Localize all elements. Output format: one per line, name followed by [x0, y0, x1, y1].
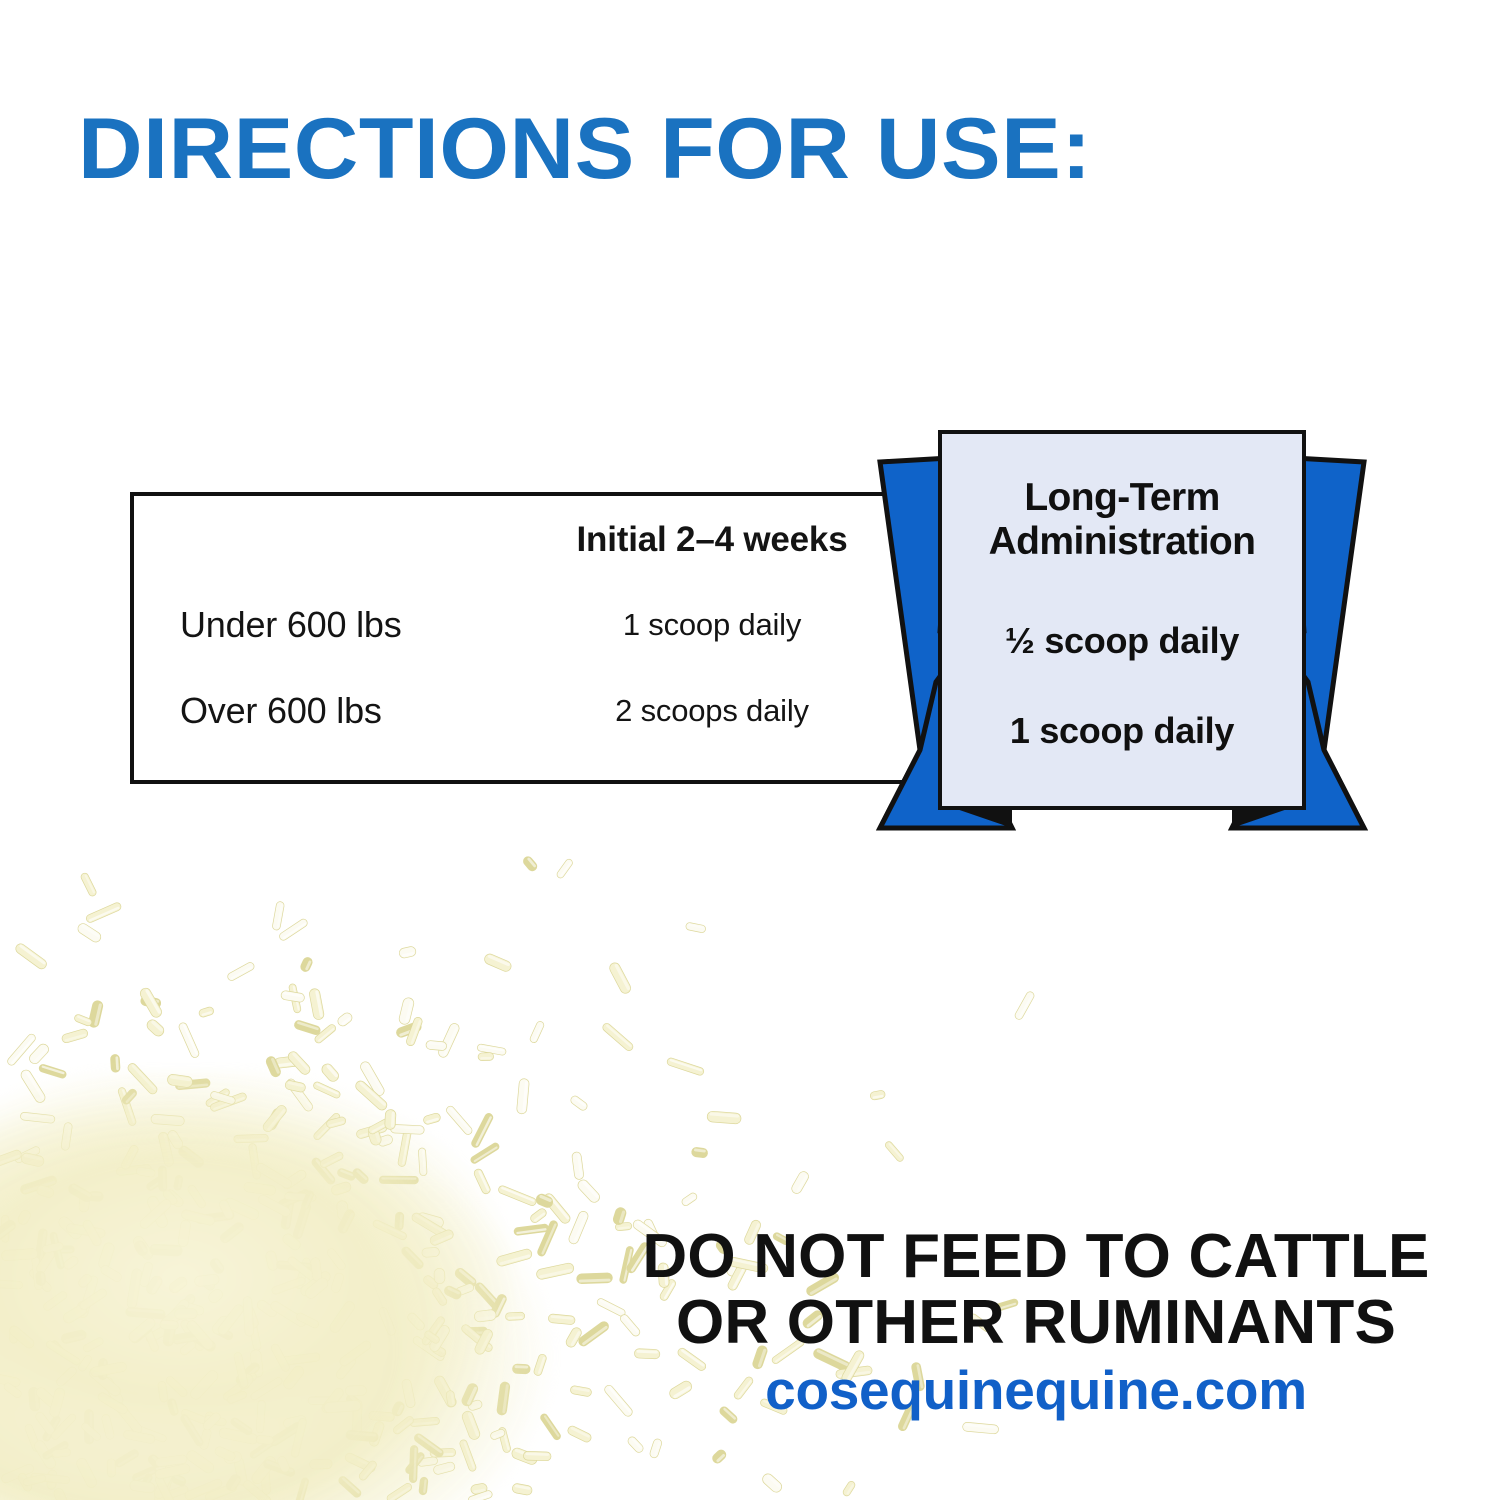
granule — [467, 1399, 483, 1411]
granule — [461, 1410, 482, 1441]
granule — [157, 1381, 168, 1403]
granule — [34, 1411, 56, 1437]
granule — [250, 1454, 278, 1486]
granule — [19, 1175, 58, 1195]
granule — [34, 1228, 48, 1267]
granule — [250, 1376, 284, 1401]
granule — [55, 1365, 78, 1387]
granule — [295, 1257, 312, 1289]
granule — [299, 956, 313, 973]
granule — [455, 1283, 475, 1297]
granule — [190, 1330, 217, 1353]
granule — [210, 1314, 231, 1336]
granule — [430, 1448, 456, 1457]
granule — [139, 1261, 153, 1287]
granule — [433, 1374, 458, 1409]
granule — [369, 1411, 395, 1421]
granule — [338, 1339, 372, 1367]
granule — [223, 1196, 261, 1221]
granule — [158, 1166, 167, 1192]
granule — [459, 1439, 477, 1472]
granule — [204, 1415, 227, 1427]
granule — [218, 1221, 245, 1245]
granule — [77, 1354, 93, 1372]
granule — [195, 1211, 234, 1224]
table-row: Over 600 lbs 2 scoops daily — [134, 690, 978, 744]
granule — [154, 1485, 190, 1500]
granule — [145, 1322, 176, 1345]
granule — [760, 1472, 783, 1495]
granule — [0, 1373, 21, 1388]
granule — [52, 1448, 72, 1458]
granule — [66, 1223, 106, 1238]
granule — [569, 1094, 589, 1111]
granule — [412, 1335, 446, 1362]
granule — [117, 1087, 137, 1127]
granule — [512, 1483, 533, 1496]
ribbon-title-line-2: Administration — [942, 520, 1302, 564]
granule — [522, 855, 539, 873]
granule — [319, 1151, 344, 1169]
granule — [398, 946, 416, 959]
granule — [31, 1257, 42, 1291]
granule — [535, 1192, 555, 1209]
granule — [174, 1308, 197, 1319]
granule — [99, 1264, 123, 1283]
granule — [61, 1028, 89, 1044]
granule — [615, 1222, 632, 1231]
granule — [207, 1287, 225, 1305]
granule — [707, 1111, 742, 1124]
granule — [542, 1192, 572, 1226]
granule — [136, 1167, 156, 1178]
granule — [514, 1224, 549, 1236]
granule — [596, 1297, 626, 1317]
granule — [6, 1033, 37, 1067]
granule — [281, 1352, 321, 1365]
granule — [205, 1088, 231, 1108]
granule — [359, 1060, 386, 1097]
granule — [76, 922, 103, 944]
granule — [397, 1130, 411, 1168]
granule — [49, 1246, 74, 1254]
granule — [395, 1212, 404, 1230]
granule — [417, 1457, 438, 1467]
granule — [47, 1470, 58, 1490]
granule — [548, 1314, 575, 1325]
granule — [536, 1262, 575, 1280]
granule — [49, 1387, 66, 1418]
granule — [185, 1319, 215, 1352]
granule — [962, 1422, 999, 1434]
granule — [185, 1449, 216, 1476]
granule — [276, 1455, 291, 1473]
granule — [145, 1274, 164, 1296]
granule — [288, 983, 301, 1013]
granule — [496, 1381, 510, 1415]
granule — [566, 1425, 592, 1444]
granule — [121, 1088, 139, 1106]
granule — [262, 1459, 296, 1478]
granule — [101, 1376, 124, 1407]
granule — [10, 1326, 18, 1343]
granule — [45, 1340, 81, 1367]
granule — [570, 1385, 592, 1397]
granule — [685, 922, 706, 933]
granule — [309, 988, 325, 1021]
granule — [398, 997, 415, 1026]
granule — [533, 1353, 547, 1376]
granule — [96, 1391, 128, 1415]
granule — [372, 1219, 408, 1241]
granule — [162, 1315, 177, 1346]
granule — [437, 1022, 461, 1059]
granule — [0, 1463, 35, 1484]
granule — [277, 1188, 311, 1209]
granule — [133, 1239, 150, 1258]
granule — [167, 1074, 194, 1089]
granule — [842, 1480, 857, 1497]
ribbon-title-line-1: Long-Term — [942, 476, 1302, 520]
granule — [295, 1312, 320, 1330]
granule — [313, 1023, 337, 1044]
granule — [601, 1022, 634, 1053]
granule — [400, 1245, 425, 1270]
granule — [310, 1257, 322, 1282]
granule — [234, 1361, 261, 1387]
granule — [36, 1184, 55, 1199]
granule — [328, 1299, 357, 1334]
granule — [422, 1274, 440, 1291]
granule — [445, 1105, 474, 1136]
granule — [711, 1448, 728, 1465]
row-initial-dose: 2 scoops daily — [502, 693, 922, 729]
granule — [202, 1411, 222, 1432]
granule — [186, 1184, 207, 1210]
granule — [285, 1192, 317, 1201]
granule — [536, 1219, 558, 1257]
granule — [234, 1134, 269, 1143]
granule — [62, 1255, 80, 1271]
granule — [2, 1381, 22, 1399]
granule — [42, 1290, 68, 1312]
row-initial-dose: 1 scoop daily — [502, 607, 922, 643]
granule — [80, 1422, 102, 1442]
granule — [352, 1400, 362, 1440]
granule — [173, 1175, 183, 1191]
granule — [473, 1328, 494, 1356]
granule — [478, 1053, 494, 1061]
granule — [160, 1320, 179, 1330]
granule — [88, 1000, 104, 1029]
granule — [336, 1167, 356, 1181]
granule — [255, 1162, 293, 1190]
granule — [612, 1206, 627, 1226]
granule — [154, 1474, 178, 1500]
granule — [226, 1390, 247, 1404]
granule — [312, 1081, 341, 1099]
granule — [150, 1244, 183, 1256]
granule — [213, 1325, 234, 1341]
granule — [229, 1416, 253, 1436]
granule — [608, 961, 633, 995]
granule — [20, 1112, 55, 1124]
granule — [884, 1140, 905, 1163]
granule — [78, 1191, 90, 1212]
website-url[interactable]: cosequinequine.com — [636, 1358, 1436, 1422]
granule — [1, 1248, 38, 1261]
granule — [666, 1057, 705, 1076]
granule — [167, 1398, 180, 1417]
granule — [368, 1420, 385, 1447]
granule — [354, 1079, 389, 1112]
granule — [460, 1323, 494, 1353]
granule — [145, 1018, 166, 1039]
granule — [179, 1293, 197, 1312]
granule — [97, 1241, 115, 1270]
granule — [75, 1456, 99, 1489]
granule — [265, 1250, 279, 1271]
granule — [35, 1240, 62, 1275]
granule — [73, 1013, 92, 1026]
granule — [470, 1112, 494, 1149]
granule — [223, 1451, 242, 1465]
granule — [523, 1451, 551, 1461]
granule — [281, 1232, 303, 1252]
granule — [130, 1423, 167, 1443]
long-term-ribbon-callout: Long-Term Administration ½ scoop daily 1… — [862, 420, 1382, 840]
granule — [131, 1234, 155, 1261]
granule — [247, 1314, 262, 1351]
granule — [870, 1090, 886, 1101]
granule — [336, 1200, 349, 1220]
granule — [467, 1490, 493, 1500]
table-row: Under 600 lbs 1 scoop daily — [134, 604, 978, 658]
granule — [123, 1429, 156, 1444]
granule — [60, 1329, 87, 1344]
granule — [556, 858, 574, 880]
granule — [410, 1211, 449, 1239]
granule — [127, 1316, 157, 1344]
granule — [57, 1215, 84, 1242]
granule — [16, 1208, 32, 1226]
granule — [453, 1266, 478, 1289]
granule — [567, 1210, 589, 1245]
granule — [346, 1430, 379, 1442]
row-weight-label: Under 600 lbs — [180, 604, 402, 646]
granule — [293, 1019, 321, 1035]
granule — [38, 1064, 67, 1080]
granule — [20, 1152, 45, 1168]
granule — [163, 1188, 185, 1209]
granule — [619, 1246, 634, 1284]
granule — [576, 1178, 602, 1205]
ribbon-dose-over-600: 1 scoop daily — [942, 710, 1302, 752]
granule — [167, 1298, 191, 1323]
granule — [355, 1122, 387, 1139]
granule — [158, 1131, 175, 1167]
granule — [146, 1195, 170, 1230]
granule — [336, 1011, 354, 1028]
granule — [269, 1300, 307, 1329]
granule — [426, 1040, 447, 1050]
granule — [19, 1068, 47, 1104]
granule — [505, 1312, 525, 1321]
granule — [90, 1361, 128, 1377]
granule — [299, 1270, 333, 1298]
dosage-table: Initial 2–4 weeks Under 600 lbs 1 scoop … — [130, 492, 982, 784]
granule — [431, 1286, 448, 1307]
granule — [233, 1456, 248, 1486]
granule — [358, 1459, 378, 1481]
granule — [84, 1409, 93, 1444]
granule — [8, 1324, 36, 1350]
granule — [151, 1114, 185, 1126]
granule — [22, 1474, 46, 1487]
granule — [429, 1228, 455, 1246]
granule — [131, 1465, 157, 1482]
granule — [489, 1428, 506, 1440]
granule — [233, 1352, 248, 1388]
granule — [166, 1129, 185, 1151]
granule — [0, 1149, 23, 1170]
granule — [61, 1303, 88, 1325]
granule — [577, 1273, 613, 1284]
granule — [286, 1050, 312, 1077]
granule — [194, 1274, 220, 1287]
granule — [237, 1372, 255, 1391]
granule — [390, 1124, 424, 1134]
granule — [101, 1414, 115, 1440]
granule — [413, 1432, 445, 1458]
granule — [309, 1459, 332, 1469]
granule — [0, 1279, 23, 1289]
granule — [303, 1276, 330, 1301]
granule — [87, 1366, 122, 1398]
granule — [680, 1192, 698, 1208]
granule — [82, 1336, 104, 1353]
granule — [326, 1116, 347, 1129]
granule — [28, 1268, 53, 1294]
table-header-initial-period: Initial 2–4 weeks — [502, 520, 922, 560]
granule — [410, 1417, 440, 1427]
granule — [42, 1242, 64, 1254]
granule — [430, 1343, 447, 1358]
granule — [243, 1182, 276, 1196]
granule — [181, 1209, 216, 1226]
granule — [216, 1303, 245, 1337]
granule — [146, 1453, 163, 1470]
granule — [270, 1343, 291, 1373]
granule — [497, 1185, 537, 1207]
granule — [199, 1428, 212, 1450]
granule — [52, 1487, 70, 1500]
granule — [265, 1055, 282, 1078]
granule — [423, 1330, 440, 1345]
granule — [177, 1144, 206, 1169]
granule — [257, 1194, 292, 1218]
granule — [626, 1435, 645, 1454]
granule — [386, 1482, 413, 1500]
granule — [85, 901, 122, 923]
granule — [421, 1315, 446, 1346]
product-label-panel: DIRECTIONS FOR USE: Initial 2–4 weeks Un… — [0, 0, 1500, 1500]
granule — [31, 1473, 71, 1484]
granule — [334, 1355, 357, 1381]
granule — [78, 1287, 108, 1311]
granule — [14, 942, 49, 971]
granule — [564, 1326, 583, 1349]
granule — [198, 1006, 214, 1018]
granule — [516, 1078, 529, 1114]
granule — [256, 1435, 274, 1444]
granule — [285, 1077, 314, 1112]
granule — [34, 1386, 59, 1410]
granule — [512, 1364, 530, 1374]
granule — [218, 1427, 258, 1445]
granule — [208, 1257, 225, 1276]
granule — [320, 1062, 341, 1084]
granule — [113, 1400, 144, 1435]
granule — [179, 1318, 206, 1352]
granule — [572, 1152, 585, 1180]
granule — [416, 1212, 445, 1230]
granule — [126, 1062, 159, 1096]
page-title: DIRECTIONS FOR USE: — [78, 106, 1092, 192]
granule — [377, 1134, 394, 1148]
granule — [649, 1438, 663, 1459]
granule — [107, 1459, 116, 1477]
granule — [470, 1483, 488, 1495]
granule — [249, 1432, 284, 1459]
granule — [283, 1415, 308, 1429]
granule — [126, 1268, 142, 1309]
granule — [433, 1461, 456, 1475]
granule — [294, 1477, 309, 1500]
granule — [0, 1218, 18, 1247]
granule — [268, 1421, 303, 1448]
granule — [496, 1248, 533, 1267]
granule — [308, 1397, 335, 1405]
granule — [510, 1447, 538, 1466]
granule — [128, 1321, 154, 1345]
granule — [24, 1423, 42, 1452]
granule — [405, 1016, 423, 1047]
granule — [188, 1368, 220, 1401]
granule — [242, 1479, 273, 1500]
granule — [153, 1460, 178, 1500]
granule — [224, 1473, 242, 1493]
granule — [320, 1386, 345, 1414]
granule — [77, 1272, 94, 1289]
granule — [418, 1148, 427, 1176]
granule — [159, 1303, 190, 1331]
granule — [446, 1390, 456, 1407]
granule — [443, 1285, 463, 1301]
granule — [529, 1020, 545, 1044]
granule — [428, 1324, 451, 1354]
granule — [138, 1473, 153, 1493]
granule — [330, 1181, 352, 1196]
granule — [180, 1408, 207, 1425]
granule — [385, 1109, 397, 1129]
granule — [243, 1305, 260, 1330]
granule — [162, 1188, 179, 1206]
granule — [379, 1176, 418, 1184]
granule — [138, 986, 163, 1019]
granule — [50, 1412, 78, 1440]
granule — [310, 1156, 336, 1186]
